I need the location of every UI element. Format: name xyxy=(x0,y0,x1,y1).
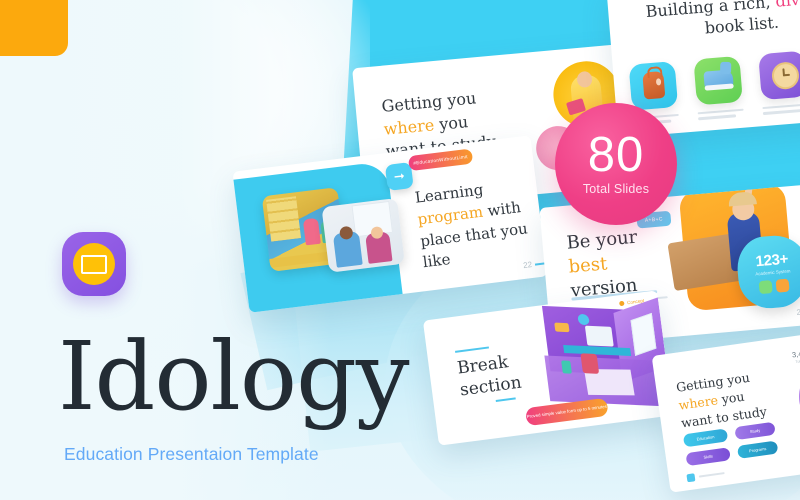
icon-card[interactable] xyxy=(758,51,800,118)
headline-accent: best xyxy=(568,253,608,277)
headline-line-2: you xyxy=(433,112,469,134)
decor-dash-top xyxy=(455,346,489,352)
headline-accent: where xyxy=(678,392,719,412)
presentation-app-icon[interactable] xyxy=(62,232,126,296)
decor-dash-bottom xyxy=(496,397,516,401)
headline-line-2: you xyxy=(717,389,745,408)
headline-line-1: Be your xyxy=(566,227,638,254)
hashtag-pill-badge: #EducationWithoutLimit xyxy=(408,149,473,172)
page-number: 25 xyxy=(796,307,800,317)
headline-line-4: like xyxy=(422,250,452,271)
students-photo xyxy=(321,198,404,273)
headline-line-2: book list. xyxy=(704,13,780,38)
backpack-icon xyxy=(629,61,679,111)
isometric-workspace-illustration xyxy=(532,292,673,416)
page-subtitle: Education Presentaion Template xyxy=(64,444,319,465)
slide-footer-logo xyxy=(686,469,725,482)
slide-headline: Break section xyxy=(456,351,523,402)
headline-line-2: with xyxy=(482,198,522,221)
icon-caption xyxy=(762,103,800,114)
break-pill-badge: Proved simple value form up to 5 minutes xyxy=(525,398,609,426)
headline-accent: where xyxy=(383,115,435,139)
headline-accent: diverse xyxy=(775,0,800,11)
book-chip-icon xyxy=(776,278,790,292)
icon-card[interactable] xyxy=(693,56,744,123)
total-slides-badge: 80 Total Slides xyxy=(555,103,677,225)
clock-icon xyxy=(758,51,800,101)
page-number: 22 xyxy=(523,260,533,270)
chart-button[interactable]: Skills xyxy=(685,447,730,466)
sneaker-icon xyxy=(693,56,743,106)
total-slides-label: Total Slides xyxy=(583,182,649,196)
slide-headline: Building a rich, diverse book list. xyxy=(630,0,800,45)
stat-chip-row xyxy=(759,278,790,294)
stat-number: 123+ xyxy=(755,250,789,270)
slide-headline: Getting you where you want to study xyxy=(675,367,768,433)
check-chip-icon xyxy=(759,280,773,294)
slide-headline: Learning program with place that you lik… xyxy=(414,173,542,274)
app-icon-disc xyxy=(73,243,115,285)
donut-chart xyxy=(794,354,800,440)
icon-caption xyxy=(698,109,744,120)
chart-button[interactable]: Programs xyxy=(737,440,778,458)
page-title: Idology xyxy=(58,330,409,425)
total-slides-number: 80 xyxy=(588,132,645,179)
presentation-template-hero: Getting you where you want to study Buil… xyxy=(0,0,800,500)
slide-glyph-icon xyxy=(81,255,107,274)
orange-corner-accent xyxy=(0,0,68,56)
donut-label-primary: 3,410 xyxy=(791,348,800,360)
